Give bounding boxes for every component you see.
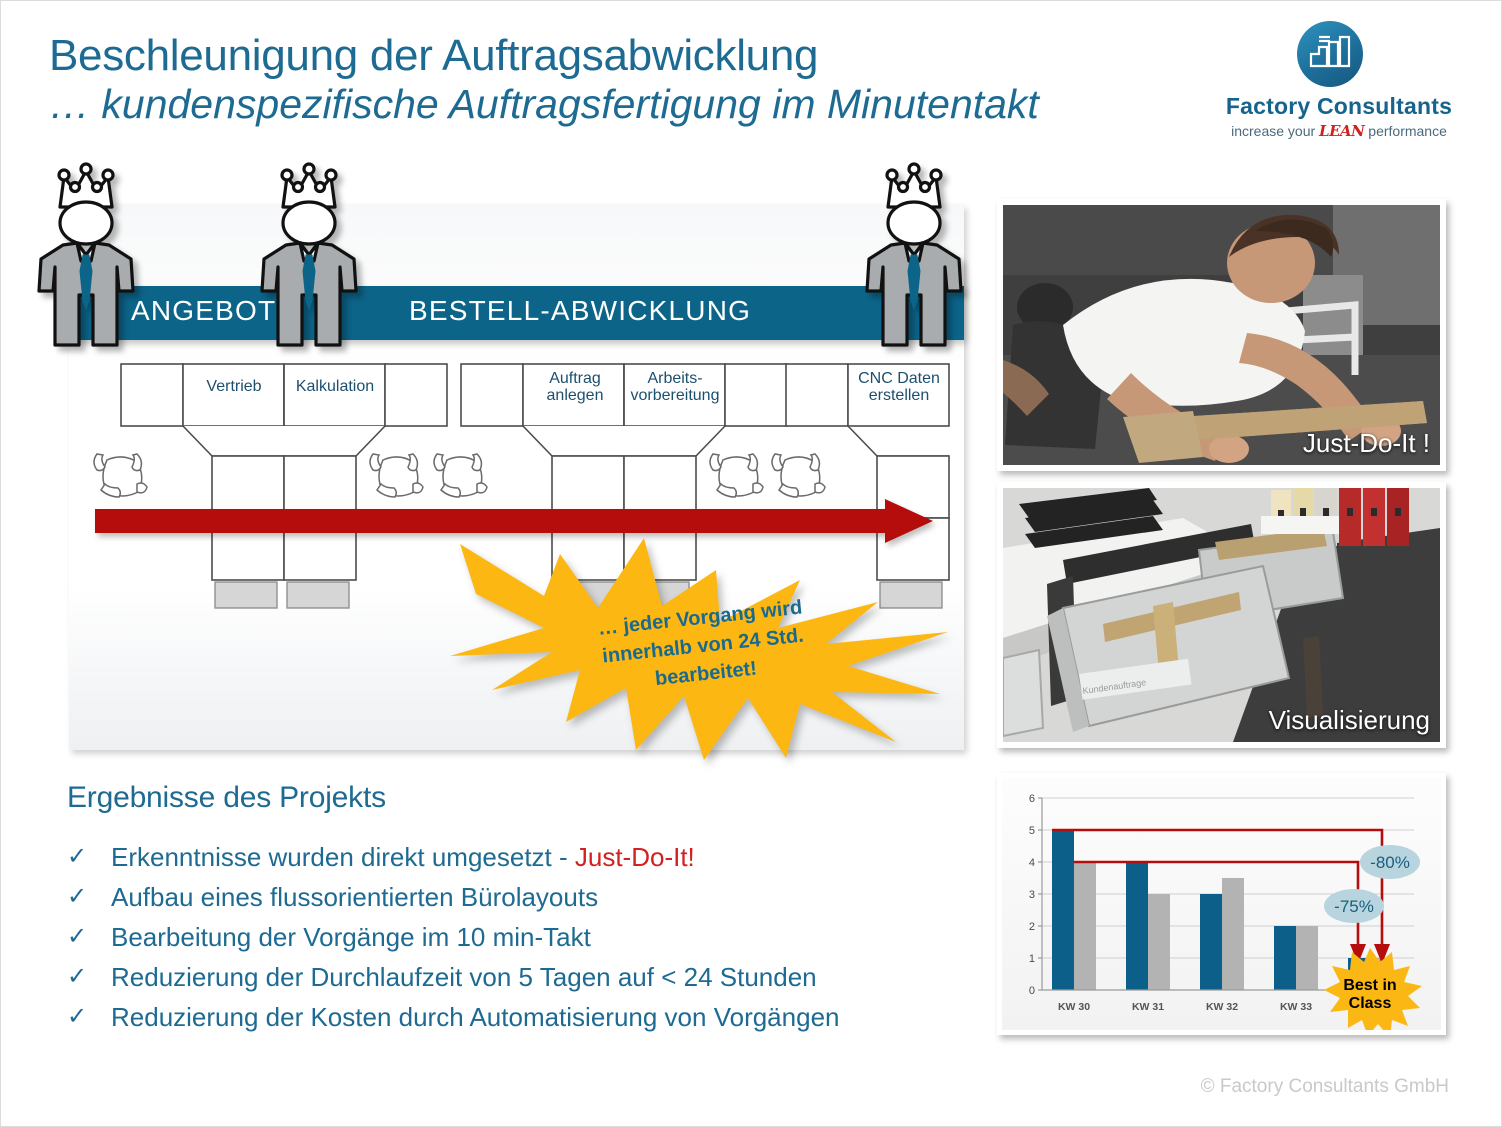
check-icon: ✓ bbox=[67, 962, 111, 992]
svg-text:KW 33: KW 33 bbox=[1280, 1001, 1312, 1013]
svg-text:5: 5 bbox=[1029, 825, 1035, 837]
badge-line-2: Class bbox=[1349, 995, 1392, 1012]
photo-image: Kundenauftrage Visualisierung bbox=[1003, 488, 1440, 742]
callout-starburst: … jeder Vorgang wird innerhalb von 24 St… bbox=[448, 536, 958, 761]
svg-text:3: 3 bbox=[1029, 889, 1035, 901]
list-item-highlight: Just-Do-It! bbox=[575, 842, 695, 872]
check-icon: ✓ bbox=[67, 922, 111, 952]
results-list: ✓ Erkenntnisse wurden direkt umgesetzt -… bbox=[67, 842, 957, 1042]
logo-tagline-post: performance bbox=[1364, 123, 1446, 139]
phase-band: ANGEBOT BESTELL-ABWICKLUNG bbox=[69, 286, 964, 340]
badge-line-1: Best in bbox=[1343, 977, 1396, 994]
check-icon: ✓ bbox=[67, 1002, 111, 1032]
logo-circle-icon bbox=[1297, 21, 1363, 87]
phase-label-angebot: ANGEBOT bbox=[131, 295, 276, 327]
page-title: Beschleunigung der Auftragsabwicklung … … bbox=[49, 33, 1149, 128]
list-item-text: Aufbau eines flussorientierten Bürolayou… bbox=[111, 882, 598, 913]
kpi-bar-chart: 012 345 6 bbox=[997, 773, 1446, 1035]
chart-plot-area: 012 345 6 bbox=[1002, 778, 1441, 1030]
company-logo: Factory Consultants increase your LEAN p… bbox=[1214, 21, 1464, 151]
list-item: ✓ Reduzierung der Kosten durch Automatis… bbox=[67, 1002, 957, 1033]
svg-text:6: 6 bbox=[1029, 793, 1035, 805]
king-figure-3 bbox=[861, 159, 979, 359]
king-figure-2 bbox=[256, 159, 374, 359]
svg-text:4: 4 bbox=[1029, 857, 1035, 869]
check-icon: ✓ bbox=[67, 842, 111, 872]
list-item-text: Bearbeitung der Vorgänge im 10 min-Takt bbox=[111, 922, 591, 953]
svg-text:KW 32: KW 32 bbox=[1206, 1001, 1238, 1013]
list-item-text: Erkenntnisse wurden direkt umgesetzt - J… bbox=[111, 842, 695, 873]
photo-caption: Visualisierung bbox=[1269, 705, 1430, 736]
list-item-text: Reduzierung der Kosten durch Automatisie… bbox=[111, 1002, 839, 1033]
photo-just-do-it: Just-Do-It ! bbox=[997, 199, 1446, 471]
list-item-text: Reduzierung der Durchlaufzeit von 5 Tage… bbox=[111, 962, 817, 993]
photo-image: Just-Do-It ! bbox=[1003, 205, 1440, 465]
check-icon: ✓ bbox=[67, 882, 111, 912]
svg-text:1: 1 bbox=[1029, 953, 1035, 965]
footer-copyright: © Factory Consultants GmbH bbox=[1201, 1076, 1449, 1098]
logo-company-name: Factory Consultants bbox=[1214, 93, 1464, 120]
photo-visualisierung: Kundenauftrage Visualisierung bbox=[997, 482, 1446, 748]
list-item: ✓ Reduzierung der Durchlaufzeit von 5 Ta… bbox=[67, 962, 957, 993]
desk-label-vertrieb: Vertrieb bbox=[191, 378, 277, 395]
svg-text:2: 2 bbox=[1029, 921, 1035, 933]
list-item: ✓ Aufbau eines flussorientierten Bürolay… bbox=[67, 882, 957, 913]
list-item: ✓ Erkenntnisse wurden direkt umgesetzt -… bbox=[67, 842, 957, 873]
title-line-1: Beschleunigung der Auftragsabwicklung bbox=[49, 33, 1149, 80]
king-figure-1 bbox=[33, 159, 151, 359]
title-line-2: … kundenspezifische Auftragsfertigung im… bbox=[49, 82, 1149, 128]
photo-caption: Just-Do-It ! bbox=[1303, 428, 1430, 459]
desk-label-auftrag-anlegen: Auftraganlegen bbox=[529, 370, 621, 404]
desk-label-cnc-daten: CNC Datenerstellen bbox=[853, 370, 945, 404]
annotation-75: -75% bbox=[1334, 897, 1374, 916]
svg-text:KW 31: KW 31 bbox=[1132, 1001, 1164, 1013]
phase-label-bestell-abwicklung: BESTELL-ABWICKLUNG bbox=[409, 295, 751, 327]
slide-canvas: Beschleunigung der Auftragsabwicklung … … bbox=[0, 0, 1502, 1127]
svg-text:0: 0 bbox=[1029, 985, 1035, 997]
logo-tagline-pre: increase your bbox=[1231, 123, 1319, 139]
annotation-80: -80% bbox=[1370, 853, 1410, 872]
desk-label-arbeitsvorbereitung: Arbeits-vorbereitung bbox=[627, 370, 723, 404]
svg-text:KW 30: KW 30 bbox=[1058, 1001, 1090, 1013]
results-heading: Ergebnisse des Projekts bbox=[67, 781, 386, 815]
desk-label-kalkulation: Kalkulation bbox=[289, 378, 381, 395]
logo-tagline: increase your LEAN performance bbox=[1214, 122, 1464, 140]
list-item: ✓ Bearbeitung der Vorgänge im 10 min-Tak… bbox=[67, 922, 957, 953]
logo-lean-word: LEAN bbox=[1319, 122, 1364, 140]
